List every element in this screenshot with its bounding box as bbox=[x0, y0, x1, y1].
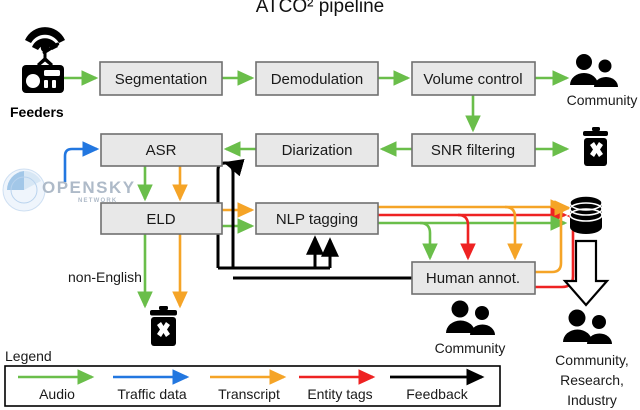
node-volume-control-label: Volume control bbox=[423, 71, 522, 88]
trash-delete-icon-top bbox=[583, 127, 608, 166]
node-human-annot-label: Human annot. bbox=[426, 270, 520, 287]
node-eld[interactable]: ELD bbox=[101, 203, 222, 234]
node-nlp-tagging-label: NLP tagging bbox=[276, 211, 358, 228]
community-label-mid: Community bbox=[435, 340, 506, 356]
pipeline-diagram: ATCO² pipeline bbox=[0, 0, 640, 410]
legend-box: Audio Traffic data Transcript Entity tag… bbox=[5, 366, 500, 406]
node-snr-filtering-label: SNR filtering bbox=[431, 142, 515, 159]
output-label-line2: Research, bbox=[560, 372, 624, 388]
legend-item-transcript-label: Transcript bbox=[218, 386, 280, 402]
community-people-icon-mid bbox=[446, 301, 495, 336]
node-eld-label: ELD bbox=[146, 211, 175, 228]
node-demodulation-label: Demodulation bbox=[271, 71, 364, 88]
opensky-sub-wordmark: NETWORK bbox=[78, 198, 117, 204]
node-human-annot[interactable]: Human annot. bbox=[412, 262, 535, 294]
non-english-label: non-English bbox=[68, 269, 142, 285]
community-label-top: Community bbox=[567, 92, 638, 108]
opensky-wordmark: OPENSKY bbox=[42, 178, 136, 197]
output-label-line3: Industry bbox=[567, 392, 617, 408]
output-label-line1: Community, bbox=[555, 352, 629, 368]
node-asr[interactable]: ASR bbox=[101, 134, 222, 166]
community-people-icon-top bbox=[570, 54, 618, 87]
node-diarization-label: Diarization bbox=[282, 142, 353, 159]
node-demodulation[interactable]: Demodulation bbox=[256, 62, 378, 95]
community-people-icon-bottom bbox=[563, 310, 612, 345]
legend-heading: Legend bbox=[5, 348, 52, 364]
trash-delete-icon-bottom bbox=[150, 306, 177, 346]
node-snr-filtering[interactable]: SNR filtering bbox=[412, 134, 535, 166]
down-block-arrow-icon bbox=[565, 241, 607, 305]
process-boxes: Segmentation Demodulation Volume control… bbox=[100, 62, 535, 294]
node-volume-control[interactable]: Volume control bbox=[412, 62, 535, 95]
legend-item-entity-tags-label: Entity tags bbox=[307, 386, 372, 402]
database-cylinder-icon bbox=[570, 196, 602, 234]
node-asr-label: ASR bbox=[146, 142, 177, 159]
page-title: ATCO² pipeline bbox=[256, 0, 384, 17]
feeders-label: Feeders bbox=[10, 104, 64, 120]
node-diarization[interactable]: Diarization bbox=[256, 134, 378, 166]
legend-item-traffic-data-label: Traffic data bbox=[117, 386, 186, 402]
legend-item-audio-label: Audio bbox=[39, 386, 75, 402]
node-nlp-tagging[interactable]: NLP tagging bbox=[256, 203, 378, 234]
antenna-tower-icon bbox=[25, 27, 65, 66]
node-segmentation[interactable]: Segmentation bbox=[100, 62, 222, 95]
node-segmentation-label: Segmentation bbox=[115, 71, 208, 88]
legend-item-feedback-label: Feedback bbox=[406, 386, 468, 402]
